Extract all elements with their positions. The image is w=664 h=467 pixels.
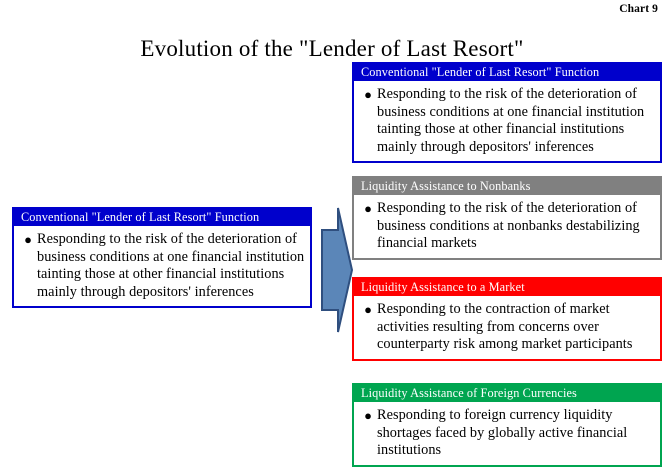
panel-header-foreign-currencies: Liquidity Assistance of Foreign Currenci… (354, 385, 660, 402)
bullet-item: ● Responding to the risk of the deterior… (359, 86, 655, 156)
panel-conventional-left: Conventional "Lender of Last Resort" Fun… (12, 207, 312, 308)
arrow-polygon (322, 208, 352, 332)
panel-body-conventional: ● Responding to the risk of the deterior… (354, 81, 660, 161)
panel-liquidity-nonbanks: Liquidity Assistance to Nonbanks ● Respo… (352, 176, 662, 260)
panel-liquidity-foreign-currencies: Liquidity Assistance of Foreign Currenci… (352, 383, 662, 467)
panel-header-market: Liquidity Assistance to a Market (354, 279, 660, 296)
panel-liquidity-market: Liquidity Assistance to a Market ● Respo… (352, 277, 662, 361)
panel-body-foreign-currencies: ● Responding to foreign currency liquidi… (354, 402, 660, 465)
bullet-item: ● Responding to the risk of the deterior… (19, 231, 305, 301)
bullet-text: Responding to the risk of the deteriorat… (377, 200, 655, 253)
bullet-item: ● Responding to foreign currency liquidi… (359, 407, 655, 460)
bullet-text: Responding to the risk of the deteriorat… (37, 231, 305, 301)
bullet-dot-icon: ● (359, 301, 377, 319)
panel-body-market: ● Responding to the contraction of marke… (354, 296, 660, 359)
bullet-dot-icon: ● (359, 200, 377, 218)
bullet-item: ● Responding to the risk of the deterior… (359, 200, 655, 253)
bullet-item: ● Responding to the contraction of marke… (359, 301, 655, 354)
panel-body-nonbanks: ● Responding to the risk of the deterior… (354, 195, 660, 258)
panel-body-conventional-left: ● Responding to the risk of the deterior… (14, 226, 310, 306)
page-title: Evolution of the "Lender of Last Resort" (0, 36, 664, 62)
bullet-dot-icon: ● (359, 86, 377, 104)
panel-header-nonbanks: Liquidity Assistance to Nonbanks (354, 178, 660, 195)
bullet-text: Responding to foreign currency liquidity… (377, 407, 655, 460)
panel-header-conventional-left: Conventional "Lender of Last Resort" Fun… (14, 209, 310, 226)
bullet-dot-icon: ● (19, 231, 37, 249)
bullet-text: Responding to the contraction of market … (377, 301, 655, 354)
right-arrow-icon (316, 206, 354, 334)
bullet-text: Responding to the risk of the deteriorat… (377, 86, 655, 156)
right-arrow-shape (316, 206, 354, 334)
chart-number-label: Chart 9 (619, 3, 658, 15)
bullet-dot-icon: ● (359, 407, 377, 425)
panel-header-conventional: Conventional "Lender of Last Resort" Fun… (354, 64, 660, 81)
panel-conventional-right: Conventional "Lender of Last Resort" Fun… (352, 62, 662, 163)
